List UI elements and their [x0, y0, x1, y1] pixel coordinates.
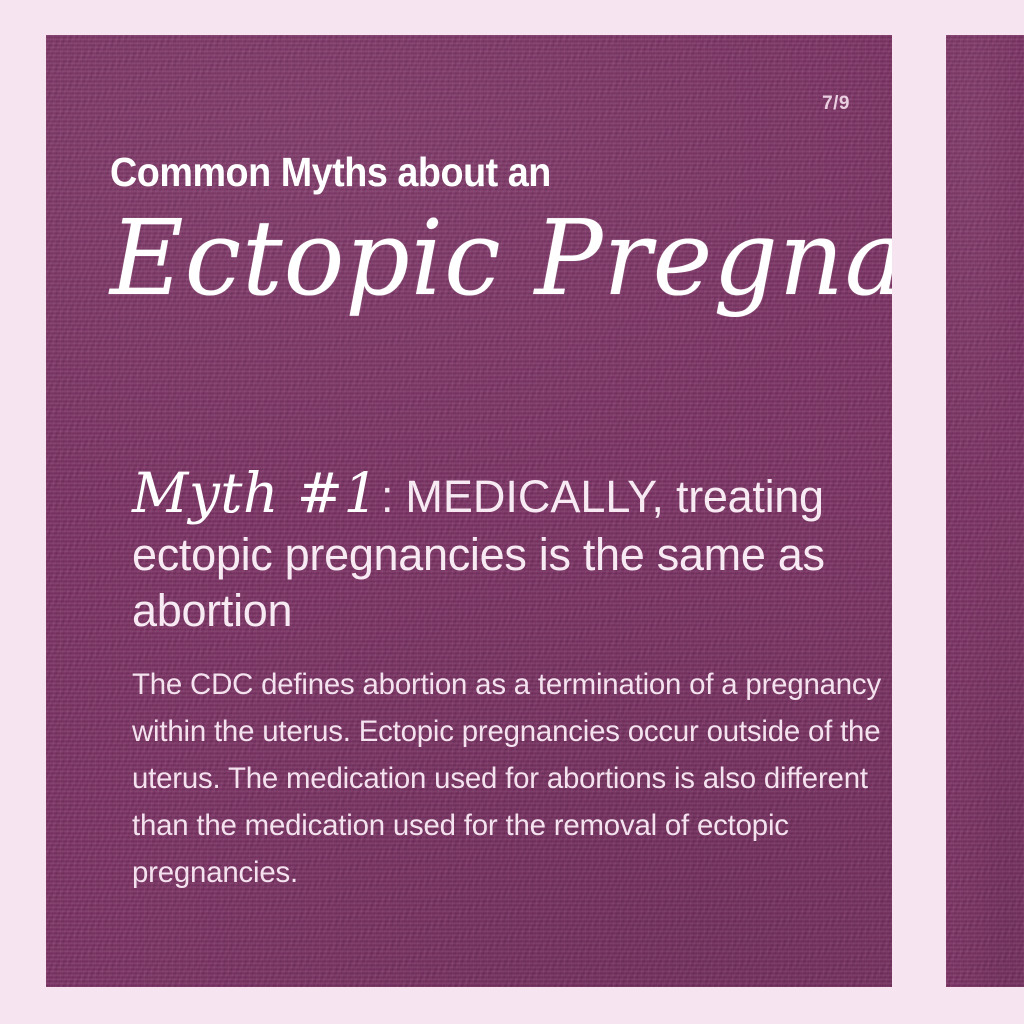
slide-card-current[interactable]: 7/9 Common Myths about an Ectopic Pregna… — [46, 35, 892, 987]
canvas-texture-vertical — [946, 35, 1024, 987]
myth-label: Myth #1 — [132, 461, 381, 525]
myth-statement: Myth #1: MEDICALLY, treating ectopic pre… — [132, 459, 892, 639]
canvas-texture-horizontal — [946, 35, 1024, 987]
slide-card-next-peek[interactable] — [946, 35, 1024, 987]
carousel-stage: 7/9 Common Myths about an Ectopic Pregna… — [0, 0, 1024, 1024]
canvas-texture-mottle — [946, 35, 1024, 987]
headline-block: Common Myths about an Ectopic Pregnancy — [110, 152, 892, 322]
myth-emphasis: MEDICALLY, — [405, 471, 663, 522]
headline-script-title: Ectopic Pregnancy — [110, 195, 876, 322]
myth-separator: : — [381, 471, 393, 522]
page-counter: 7/9 — [822, 93, 850, 115]
headline-kicker: Common Myths about an — [110, 152, 837, 193]
slide-content: 7/9 Common Myths about an Ectopic Pregna… — [46, 35, 892, 987]
myth-body-paragraph: The CDC defines abortion as a terminatio… — [132, 661, 889, 896]
canvas-texture-shading — [946, 35, 1024, 987]
